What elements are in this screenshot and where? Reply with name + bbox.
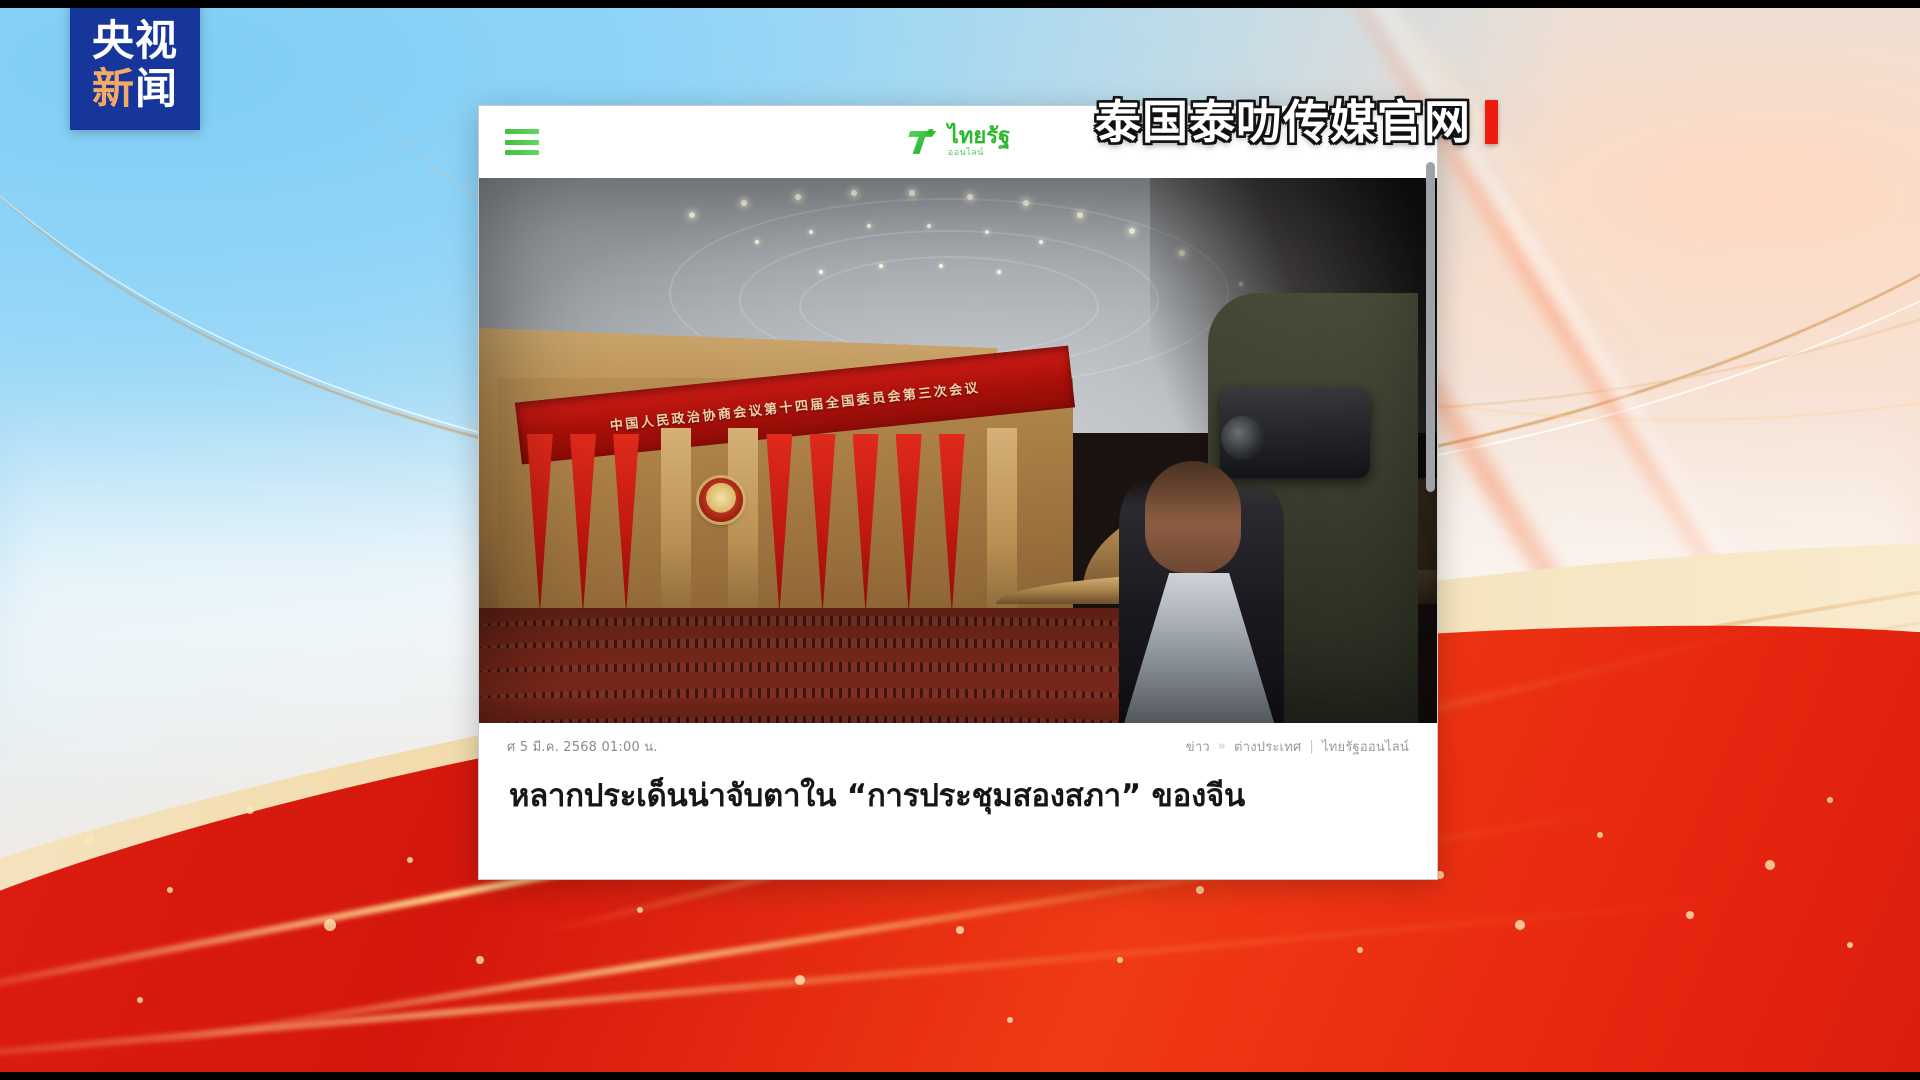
hamburger-bar-1: [505, 129, 539, 134]
letterbox-top: [0, 0, 1920, 8]
tag-section[interactable]: ข่าว: [1186, 736, 1210, 757]
publish-date: ศ 5 มี.ค. 2568 01:00 น.: [507, 736, 658, 757]
article-byline: ศ 5 มี.ค. 2568 01:00 น. ข่าว » ต่างประเท…: [479, 723, 1437, 766]
hamburger-bar-2: [505, 140, 539, 145]
tag-arrow-icon: »: [1218, 739, 1226, 754]
site-subname-thai: ออนไลน์: [948, 148, 984, 159]
cctv-news-logo: 央视 新闻: [70, 0, 200, 130]
tag-separator: |: [1309, 739, 1314, 754]
site-name-thai: ไทยรัฐ: [948, 126, 1010, 148]
logo-char-wen: 闻: [135, 64, 178, 113]
tag-subsection[interactable]: ต่างประเทศ: [1234, 736, 1301, 757]
logo-char-xin: 新: [92, 64, 135, 113]
logo-line-1: 央视: [92, 18, 178, 64]
hamburger-bar-3: [505, 150, 539, 155]
article-tags: ข่าว » ต่างประเทศ | ไทยรัฐออนไลน์: [1186, 736, 1409, 757]
source-caption: 泰国泰叻传媒官网: [1095, 98, 1498, 146]
vertical-scrollbar[interactable]: [1426, 162, 1435, 492]
logo-line-2: 新闻: [92, 66, 178, 112]
broadcast-frame: 央视 新闻 ไทย: [0, 0, 1920, 1080]
source-caption-text: 泰国泰叻传媒官网: [1095, 98, 1471, 146]
article-headline: หลากประเด็นน่าจับตาใน “การประชุมสองสภา” …: [479, 766, 1437, 818]
thairath-t-icon: [906, 125, 940, 159]
letterbox-bottom: [0, 1072, 1920, 1080]
site-logo[interactable]: ไทยรัฐ ออนไลน์: [906, 125, 1010, 159]
photo-vignette: [479, 178, 1437, 723]
site-wordmark: ไทยรัฐ ออนไลน์: [948, 126, 1010, 159]
article-hero-image: 中国人民政治协商会议第十四届全国委员会第三次会议: [479, 178, 1437, 723]
tag-source[interactable]: ไทยรัฐออนไลน์: [1322, 736, 1409, 757]
scrollbar-thumb[interactable]: [1426, 162, 1435, 492]
browser-page-panel[interactable]: ไทยรัฐ ออนไลน์: [478, 105, 1438, 880]
hamburger-icon[interactable]: [505, 129, 539, 155]
red-bar-marker: [1485, 100, 1498, 144]
